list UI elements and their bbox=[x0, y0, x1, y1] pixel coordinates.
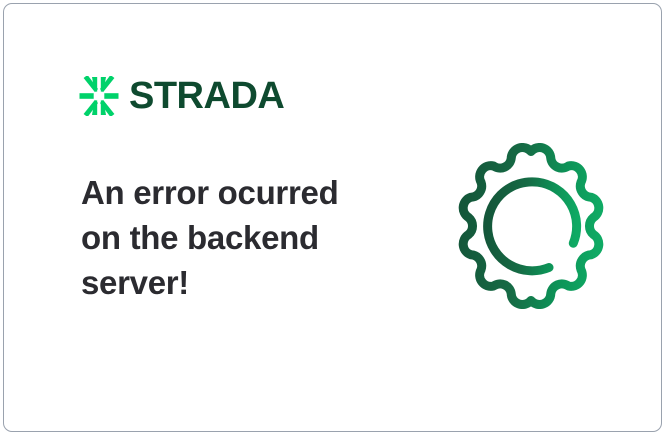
brand-wordmark: STRADA bbox=[129, 77, 284, 115]
strada-asterisk-icon bbox=[79, 76, 119, 116]
gear-cog-icon bbox=[448, 143, 614, 309]
error-card: STRADA An error ocurred on the backend s… bbox=[3, 3, 662, 432]
error-message: An error ocurred on the backend server! bbox=[81, 170, 381, 305]
error-screen: STRADA An error ocurred on the backend s… bbox=[0, 0, 666, 436]
brand-lockup: STRADA bbox=[79, 73, 284, 119]
